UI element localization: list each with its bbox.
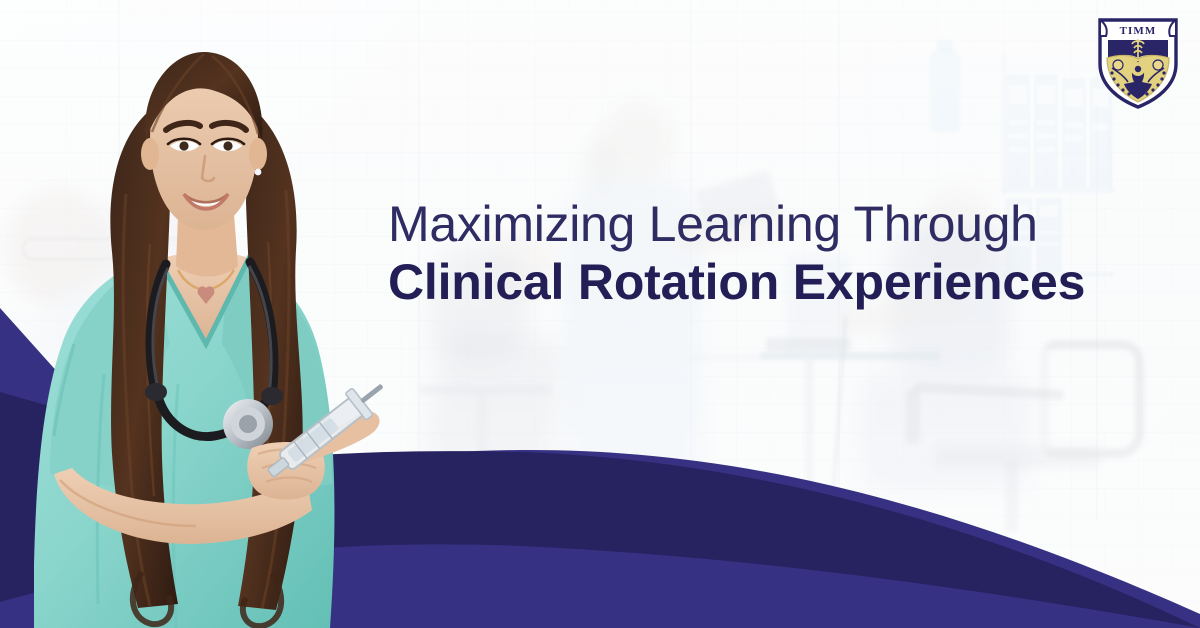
- emblem-rosette-left: [1113, 60, 1123, 70]
- nurse-portrait: [0, 44, 470, 628]
- clinical-rotation-banner: Maximizing Learning Through Clinical Rot…: [0, 0, 1200, 628]
- logo-text: TIMM: [1120, 25, 1157, 37]
- emblem-rosette-right: [1153, 60, 1163, 70]
- stethoscope-chestpiece: [223, 399, 273, 449]
- headline: Maximizing Learning Through Clinical Rot…: [388, 198, 1178, 310]
- stethoscope-joint: [145, 383, 167, 401]
- stethoscope-joint: [261, 387, 283, 405]
- headline-line-2: Clinical Rotation Experiences: [388, 254, 1178, 310]
- headline-line-1: Maximizing Learning Through: [388, 198, 1178, 250]
- timm-shield-logo[interactable]: TIMM: [1094, 14, 1182, 110]
